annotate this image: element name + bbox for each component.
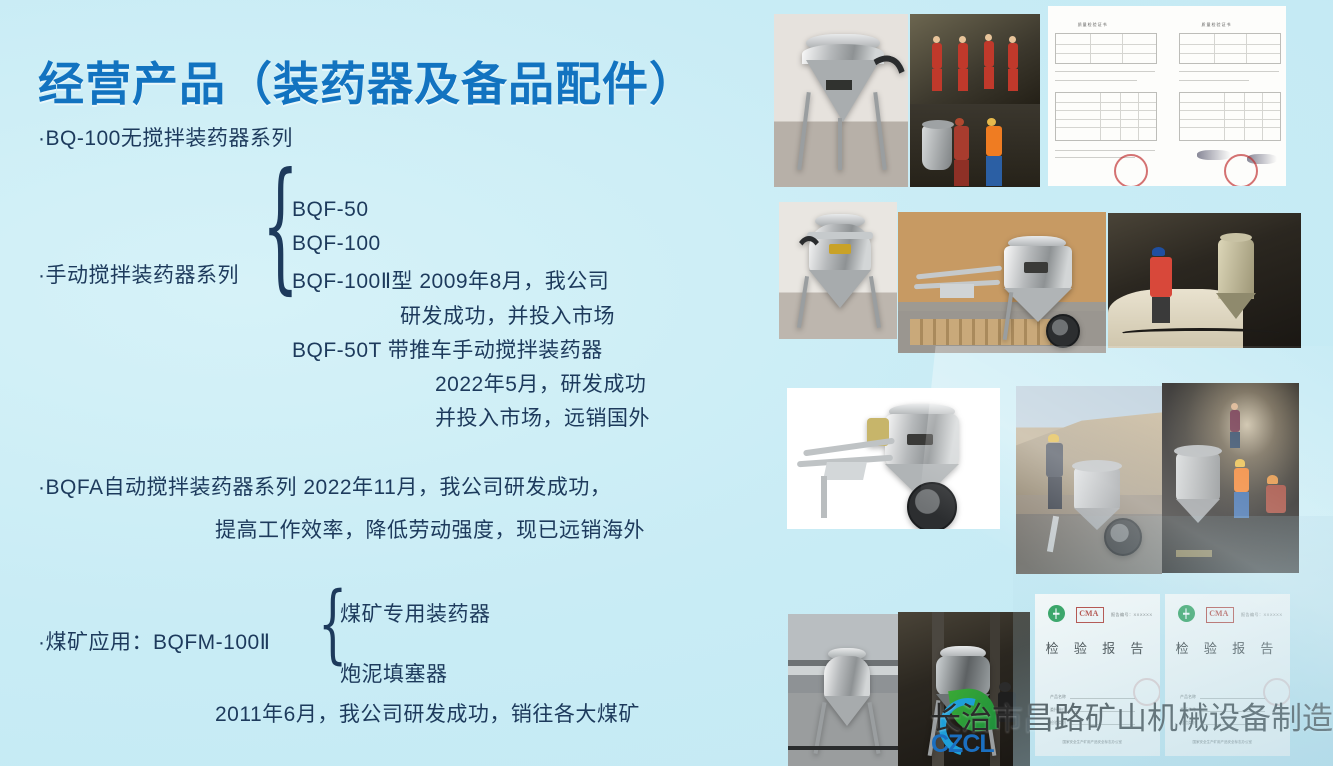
- report-title-1: 检 验 报 告: [1035, 638, 1160, 657]
- group1-line-6: 并投入市场，远销国外: [435, 402, 650, 432]
- photo-bqf50t-cart: [898, 212, 1106, 353]
- group1-line-2: BQF-100Ⅱ型 2009年8月，我公司: [292, 265, 609, 295]
- group3-line-2: 2011年6月，我公司研发成功，销往各大煤矿: [215, 698, 640, 728]
- group1-line-0: BQF-50: [292, 198, 369, 222]
- group3-line-1: 炮泥填塞器: [340, 658, 448, 688]
- text-column: 经营产品（装药器及备品配件） ·BQ-100无搅拌装药器系列 ·手动搅拌装药器系…: [0, 0, 770, 766]
- group1-line-5: 2022年5月，研发成功: [435, 368, 646, 398]
- photo-tunnel-work: [1162, 383, 1299, 573]
- group3-line-0: 煤矿专用装药器: [340, 598, 491, 628]
- photo-quality-certificates: 质量检验证书: [1048, 6, 1286, 186]
- photo-underground-loading: [1108, 213, 1301, 348]
- cma-logo-icon: [1076, 607, 1104, 623]
- photo-outdoor-site: [1016, 386, 1162, 574]
- photo-bq100-unit: [774, 14, 908, 187]
- photo-bqfm100-yard: [788, 614, 898, 766]
- photo-mine-crew: [910, 14, 1040, 187]
- group1-line-1: BQF-100: [292, 232, 381, 256]
- cma-logo-icon: [1206, 607, 1234, 623]
- green-cross-logo-icon: [1178, 605, 1195, 622]
- group3-label: ·煤矿应用：BQFM-100Ⅱ: [38, 626, 271, 656]
- report-title-2: 检 验 报 告: [1165, 638, 1290, 657]
- group1-label: ·手动搅拌装药器系列: [38, 259, 239, 289]
- page-title: 经营产品（装药器及备品配件）: [38, 48, 696, 114]
- company-watermark: 长治市昌路矿山机械设备制造有限公司: [930, 693, 1333, 738]
- group1-line-3: 研发成功，并投入市场: [400, 300, 615, 330]
- group2-line-0: ·BQFA自动搅拌装药器系列 2022年11月，我公司研发成功，: [38, 471, 611, 501]
- photo-bqf100-unit: [779, 202, 897, 339]
- photo-bqfa-product: [787, 388, 1000, 529]
- green-cross-logo-icon: [1048, 605, 1065, 622]
- photo-mosaic: 质量检验证书: [770, 0, 1333, 766]
- report-code-1: 报告编号：XXXXXX: [1111, 612, 1153, 618]
- group2-line-1: 提高工作效率，降低劳动强度，现已远销海外: [215, 514, 645, 544]
- group1-line-4: BQF-50T 带推车手动搅拌装药器: [292, 334, 603, 364]
- bullet-bq100: ·BQ-100无搅拌装药器系列: [38, 122, 293, 152]
- slide-canvas: 经营产品（装药器及备品配件） ·BQ-100无搅拌装药器系列 ·手动搅拌装药器系…: [0, 0, 1333, 766]
- report-code-2: 报告编号：XXXXXX: [1241, 612, 1283, 618]
